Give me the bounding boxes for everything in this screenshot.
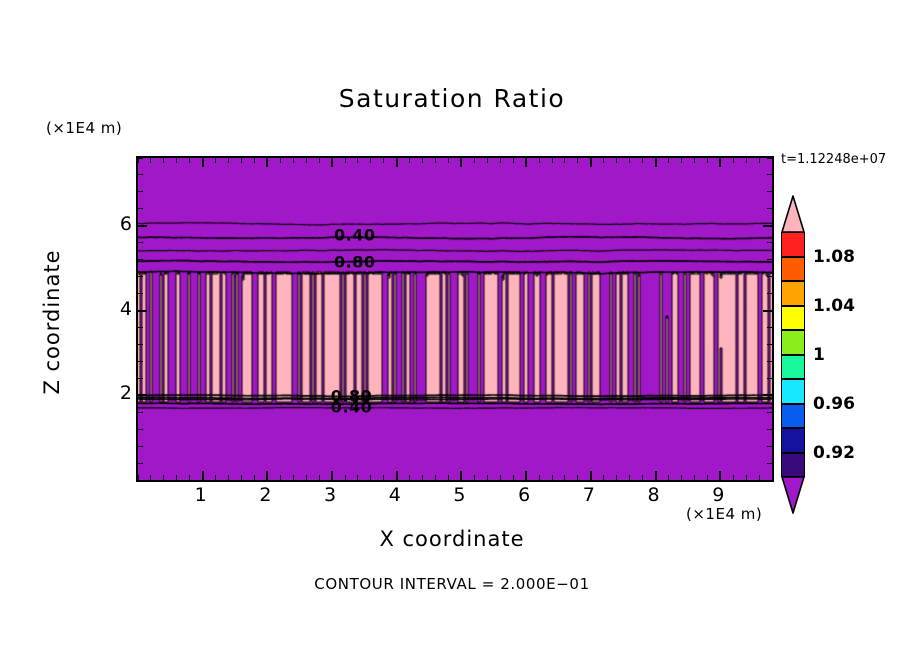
axis-tick (138, 174, 143, 175)
x-tick-label-3: 3 (324, 484, 336, 506)
axis-tick (319, 475, 320, 480)
axis-tick (306, 158, 307, 163)
axis-tick (642, 158, 643, 163)
axis-tick (138, 225, 147, 227)
axis-tick (694, 475, 695, 480)
axis-tick (189, 158, 190, 163)
axis-tick (767, 429, 772, 430)
axis-tick (138, 327, 143, 328)
axis-tick (767, 446, 772, 447)
colorbar-tick-label: 0.96 (813, 394, 855, 414)
axis-tick (422, 158, 423, 163)
axis-tick (163, 475, 164, 480)
colorbar-low-cap (781, 476, 805, 514)
colorbar-band (781, 404, 805, 429)
axis-tick (241, 475, 242, 480)
axis-tick (694, 158, 695, 163)
axis-tick (707, 158, 708, 163)
page-title: Saturation Ratio (0, 84, 904, 113)
axis-tick (539, 475, 540, 480)
axis-tick (772, 158, 773, 163)
axis-tick (474, 475, 475, 480)
x-axis-title: X coordinate (0, 527, 904, 551)
axis-tick (759, 475, 760, 480)
contour-plot-area (136, 156, 774, 482)
axis-tick (460, 471, 462, 480)
colorbar-band (781, 232, 805, 257)
axis-tick (733, 475, 734, 480)
axis-tick (357, 158, 358, 163)
x-tick-label-4: 4 (389, 484, 401, 506)
axis-tick (228, 158, 229, 163)
x-axis-unit-label: (×1E4 m) (686, 505, 762, 523)
axis-tick (280, 158, 281, 163)
axis-tick (655, 471, 657, 480)
axis-tick (487, 475, 488, 480)
x-tick-label-1: 1 (195, 484, 207, 506)
axis-tick (763, 310, 772, 312)
axis-tick (500, 158, 501, 163)
axis-tick (319, 158, 320, 163)
axis-tick (767, 412, 772, 413)
axis-tick (138, 158, 143, 159)
colorbar-band (781, 379, 805, 404)
axis-tick (266, 158, 268, 167)
axis-tick (668, 475, 669, 480)
axis-tick (435, 475, 436, 480)
axis-tick (383, 158, 384, 163)
axis-tick (577, 158, 578, 163)
axis-tick (525, 471, 527, 480)
axis-tick (746, 475, 747, 480)
axis-tick (603, 158, 604, 163)
axis-tick (767, 378, 772, 379)
axis-tick (616, 158, 617, 163)
axis-tick (746, 158, 747, 163)
axis-tick (266, 471, 268, 480)
axis-tick (138, 463, 143, 464)
x-tick-label-9: 9 (712, 484, 724, 506)
axis-tick (409, 475, 410, 480)
axis-tick (767, 361, 772, 362)
axis-tick (138, 310, 147, 312)
axis-tick (138, 361, 143, 362)
axis-tick (370, 475, 371, 480)
axis-tick (460, 158, 462, 167)
contour-plot-inner (138, 158, 772, 480)
axis-tick (138, 480, 143, 481)
axis-tick (763, 225, 772, 227)
axis-tick (176, 158, 177, 163)
colorbar-band (781, 306, 805, 331)
axis-tick (487, 158, 488, 163)
axis-tick (331, 158, 333, 167)
axis-tick (707, 475, 708, 480)
axis-tick (345, 158, 346, 163)
colorbar: 1.081.0410.960.92 (781, 232, 805, 477)
axis-tick (280, 475, 281, 480)
colorbar-band (781, 453, 805, 478)
axis-tick (616, 475, 617, 480)
axis-tick (767, 208, 772, 209)
axis-tick (525, 158, 527, 167)
axis-tick (202, 158, 204, 167)
axis-tick (767, 276, 772, 277)
axis-tick (539, 158, 540, 163)
axis-tick (293, 475, 294, 480)
axis-tick (629, 158, 630, 163)
axis-tick (254, 158, 255, 163)
timestamp-label: t=1.12248e+07 (781, 152, 886, 167)
axis-tick (655, 158, 657, 167)
axis-tick (293, 158, 294, 163)
colorbar-high-cap (781, 195, 805, 233)
axis-tick (138, 412, 143, 413)
axis-tick (370, 158, 371, 163)
colorbar-tick-label: 0.92 (813, 443, 855, 463)
axis-tick (138, 344, 143, 345)
axis-tick (396, 158, 398, 167)
axis-tick (138, 293, 143, 294)
y-tick-label-2: 2 (112, 382, 132, 404)
axis-tick (138, 158, 139, 163)
colorbar-band (781, 257, 805, 282)
colorbar-tick-label: 1.04 (813, 296, 855, 316)
axis-tick (767, 242, 772, 243)
axis-tick (500, 475, 501, 480)
axis-tick (215, 475, 216, 480)
axis-tick (241, 158, 242, 163)
axis-tick (552, 158, 553, 163)
axis-tick (767, 293, 772, 294)
axis-tick (642, 475, 643, 480)
colorbar-tick-label: 1 (813, 345, 825, 365)
axis-tick (228, 475, 229, 480)
axis-tick (668, 158, 669, 163)
axis-tick (138, 191, 143, 192)
y-tick-label-4: 4 (112, 298, 132, 320)
axis-tick (513, 158, 514, 163)
axis-tick (552, 475, 553, 480)
axis-tick (767, 259, 772, 260)
axis-tick (331, 471, 333, 480)
axis-tick (254, 475, 255, 480)
axis-tick (767, 191, 772, 192)
contour-interval-caption: CONTOUR INTERVAL = 2.000E−01 (0, 575, 904, 593)
axis-tick (150, 158, 151, 163)
y-axis-unit-label: (×1E4 m) (46, 119, 122, 137)
axis-tick (474, 158, 475, 163)
axis-tick (409, 158, 410, 163)
axis-tick (767, 174, 772, 175)
x-tick-label-2: 2 (259, 484, 271, 506)
axis-tick (138, 276, 143, 277)
axis-tick (719, 158, 721, 167)
axis-tick (763, 394, 772, 396)
axis-tick (138, 446, 143, 447)
axis-tick (590, 471, 592, 480)
axis-tick (448, 475, 449, 480)
colorbar-band (781, 281, 805, 306)
axis-tick (138, 208, 143, 209)
colorbar-tick-label: 1.08 (813, 247, 855, 267)
axis-tick (759, 158, 760, 163)
colorbar-band (781, 330, 805, 355)
x-tick-label-6: 6 (518, 484, 530, 506)
axis-tick (189, 475, 190, 480)
axis-tick (564, 158, 565, 163)
axis-tick (138, 429, 143, 430)
axis-tick (215, 158, 216, 163)
axis-tick (681, 158, 682, 163)
axis-tick (163, 158, 164, 163)
axis-tick (422, 475, 423, 480)
axis-tick (138, 378, 143, 379)
axis-tick (435, 158, 436, 163)
axis-tick (202, 471, 204, 480)
axis-tick (590, 158, 592, 167)
axis-tick (733, 158, 734, 163)
axis-tick (577, 475, 578, 480)
y-tick-label-6: 6 (112, 213, 132, 235)
axis-tick (138, 259, 143, 260)
axis-tick (767, 327, 772, 328)
axis-tick (629, 475, 630, 480)
axis-tick (564, 475, 565, 480)
axis-tick (138, 394, 147, 396)
axis-tick (448, 158, 449, 163)
axis-tick (767, 480, 772, 481)
axis-tick (513, 475, 514, 480)
axis-tick (767, 344, 772, 345)
axis-tick (383, 475, 384, 480)
axis-tick (603, 475, 604, 480)
y-axis-title: Z coordinate (40, 222, 64, 422)
axis-tick (176, 475, 177, 480)
colorbar-band (781, 428, 805, 453)
axis-tick (306, 475, 307, 480)
saturation-ratio-heatmap (138, 158, 772, 480)
axis-tick (150, 475, 151, 480)
axis-tick (767, 158, 772, 159)
axis-tick (396, 471, 398, 480)
x-tick-label-7: 7 (583, 484, 595, 506)
x-tick-label-5: 5 (453, 484, 465, 506)
axis-tick (719, 471, 721, 480)
x-tick-label-8: 8 (648, 484, 660, 506)
axis-tick (345, 475, 346, 480)
axis-tick (681, 475, 682, 480)
colorbar-band (781, 355, 805, 380)
axis-tick (767, 463, 772, 464)
axis-tick (138, 242, 143, 243)
axis-tick (357, 475, 358, 480)
